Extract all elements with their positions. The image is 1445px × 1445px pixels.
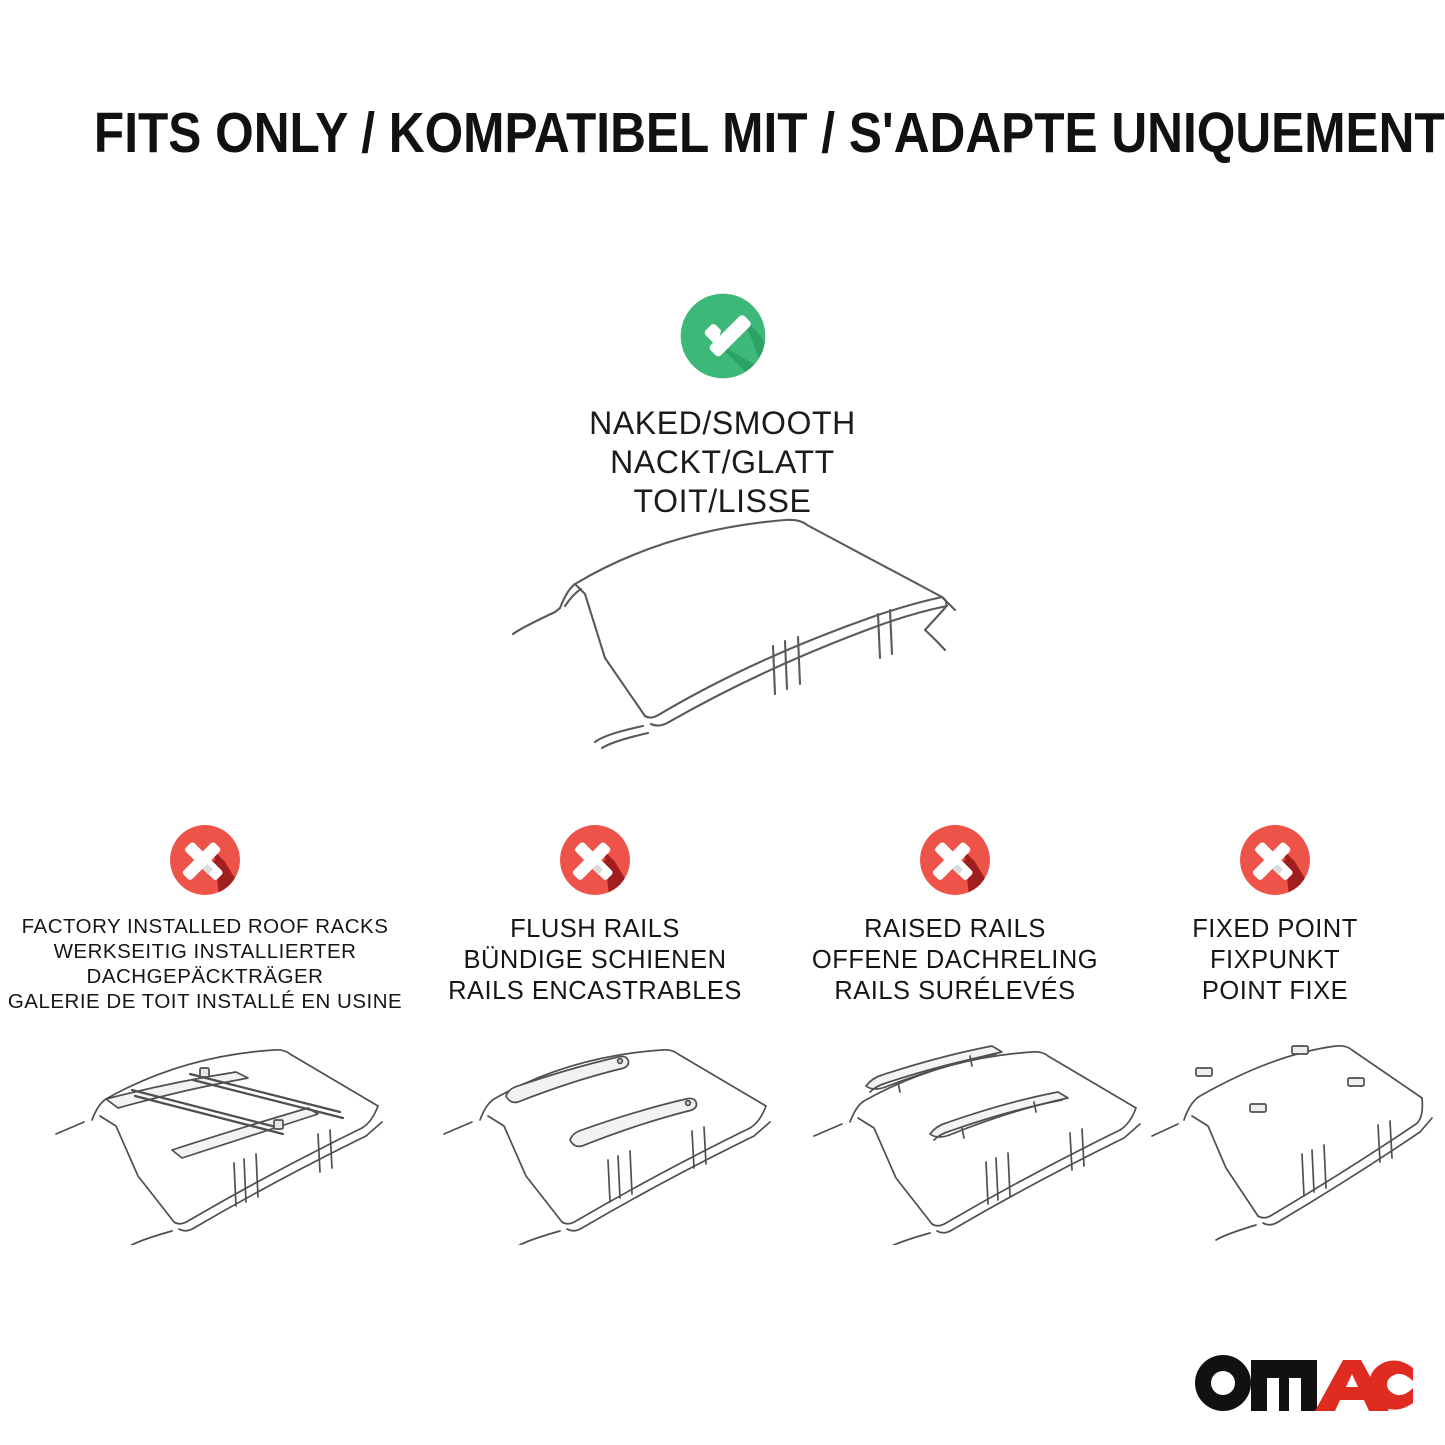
omac-logo: OMAC: [1193, 1352, 1413, 1414]
incompatible-item-raised-rails: RAISED RAILS OFFENE DACHRELING RAILS SUR…: [917, 822, 993, 1007]
car-roof-factory-racks-illustration: [22, 1030, 422, 1245]
label-line-1: FACTORY INSTALLED ROOF RACKS: [8, 914, 402, 939]
incompatible-label-flush-rails: FLUSH RAILS BÜNDIGE SCHIENEN RAILS ENCAS…: [448, 914, 742, 1007]
label-line-3: RAILS ENCASTRABLES: [448, 976, 742, 1007]
incompatible-label-fixed-point: FIXED POINT FIXPUNKT POINT FIXE: [1192, 914, 1358, 1007]
label-line-2: FIXPUNKT: [1192, 945, 1358, 976]
compatible-section: NAKED/SMOOTH NACKT/GLATT TOIT/LISSE: [0, 290, 1445, 521]
car-roof-raised-rails-illustration: [780, 1030, 1180, 1245]
label-line-2: BÜNDIGE SCHIENEN: [448, 945, 742, 976]
incompatible-item-flush-rails: FLUSH RAILS BÜNDIGE SCHIENEN RAILS ENCAS…: [557, 822, 633, 1007]
label-line-2: WERKSEITIG INSTALLIERTER: [8, 939, 402, 964]
label-line-2: OFFENE DACHRELING: [812, 945, 1098, 976]
label-line-3: POINT FIXE: [1192, 976, 1358, 1007]
label-line-1: RAISED RAILS: [812, 914, 1098, 945]
incompatible-label-raised-rails: RAISED RAILS OFFENE DACHRELING RAILS SUR…: [812, 914, 1098, 1007]
cross-circle-icon: [557, 822, 633, 898]
label-line-4: GALERIE DE TOIT INSTALLÉ EN USINE: [8, 989, 402, 1014]
compatible-label-line-2: NACKT/GLATT: [610, 444, 835, 480]
cross-circle-icon: [1237, 822, 1313, 898]
incompatible-item-fixed-point: FIXED POINT FIXPUNKT POINT FIXE: [1237, 822, 1313, 1007]
car-roof-fixed-point-illustration: [1140, 1030, 1440, 1245]
label-line-3: DACHGEPÄCKTRÄGER: [8, 964, 402, 989]
incompatible-section: FACTORY INSTALLED ROOF RACKS WERKSEITIG …: [0, 822, 1445, 1252]
incompatible-label-factory-installed-roof-racks: FACTORY INSTALLED ROOF RACKS WERKSEITIG …: [8, 914, 402, 1014]
label-line-1: FIXED POINT: [1192, 914, 1358, 945]
label-line-3: RAILS SURÉLEVÉS: [812, 976, 1098, 1007]
incompatible-item-factory-installed-roof-racks: FACTORY INSTALLED ROOF RACKS WERKSEITIG …: [167, 822, 243, 1014]
page-title: FITS ONLY / KOMPATIBEL MIT / S'ADAPTE UN…: [94, 103, 1351, 163]
car-roof-flush-rails-illustration: [410, 1030, 810, 1245]
cross-circle-icon: [167, 822, 243, 898]
check-circle-icon: [677, 290, 769, 382]
cross-circle-icon: [917, 822, 993, 898]
label-line-1: FLUSH RAILS: [448, 914, 742, 945]
compatible-label-line-1: NAKED/SMOOTH: [589, 405, 856, 441]
car-roof-naked-smooth-illustration: [455, 498, 1005, 758]
